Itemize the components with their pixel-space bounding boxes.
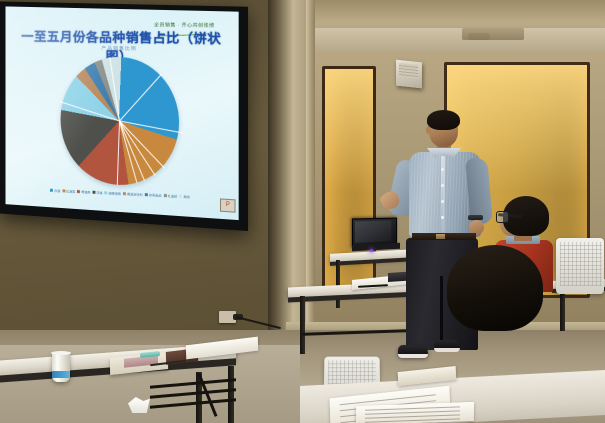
legend-label: 其他 — [183, 194, 189, 199]
legend-item: 休闲食品 — [145, 192, 162, 198]
paper-cup-foreground-band — [52, 371, 70, 378]
legend-label: 啤酒类 — [81, 189, 90, 194]
legend-swatch — [179, 195, 182, 198]
laptop-display-glow — [355, 221, 391, 243]
legend-item: 洋酒 — [92, 190, 102, 195]
alcove-glow — [325, 69, 373, 192]
paper-cup-foreground-rim — [51, 351, 71, 355]
pie-chart — [61, 56, 179, 187]
legend-item: 啤酒类 — [77, 189, 90, 195]
legend-label: 白酒 — [54, 188, 60, 193]
legend-label: 保健酒类 — [108, 190, 121, 196]
presenter-shoe-left-sole — [398, 354, 428, 358]
presentation-room-photo: 全员销售 · 齐心共创佳绩 一至五月份各品种销售占比（饼状图） 产品销售比例 白… — [0, 0, 605, 423]
projector-screen: 全员销售 · 齐心共创佳绩 一至五月份各品种销售占比（饼状图） 产品销售比例 白… — [6, 6, 239, 220]
right-table-leg — [560, 291, 565, 331]
presenter-hair — [427, 110, 460, 130]
legend-label: 休闲食品 — [149, 192, 162, 198]
legend-item: 其他 — [179, 194, 190, 200]
presenter-shoe-right-sole — [434, 348, 460, 352]
document-text-line — [365, 418, 459, 422]
laptop-indicator-led — [370, 249, 373, 252]
speaker-grill — [399, 63, 418, 79]
chair-right-mesh — [560, 242, 602, 286]
presenter-shirt-button — [441, 184, 444, 187]
rear-table-leg — [336, 260, 340, 308]
legend-item: 保健酒类 — [104, 190, 120, 196]
chart-legend: 白酒红酒类啤酒类洋酒保健酒类黄酒及饮料休闲食品礼盒装其他 — [15, 186, 228, 201]
middle-table-leg — [300, 296, 305, 354]
foreground-left-table-leg — [228, 366, 234, 423]
legend-label: 黄酒及饮料 — [127, 191, 143, 197]
legend-swatch — [50, 189, 53, 192]
legend-swatch — [164, 194, 167, 197]
handout-document — [356, 402, 474, 423]
legend-swatch — [104, 191, 107, 194]
legend-swatch — [92, 191, 95, 194]
legend-item: 白酒 — [50, 188, 60, 193]
air-conditioner-unit — [462, 28, 524, 40]
projector-screen-frame: 全员销售 · 齐心共创佳绩 一至五月份各品种销售占比（饼状图） 产品销售比例 白… — [0, 1, 248, 231]
presenter-shirt-button — [441, 168, 444, 171]
presenter-shirt-button — [441, 200, 444, 203]
legend-label: 礼盒装 — [168, 193, 178, 199]
legend-swatch — [77, 190, 80, 193]
powerpoint-badge-icon: P — [220, 198, 236, 212]
legend-swatch — [123, 192, 126, 195]
attendee-plaid-hair — [447, 245, 543, 331]
legend-swatch — [145, 193, 148, 196]
legend-item: 红酒类 — [62, 188, 75, 194]
legend-label: 洋酒 — [96, 190, 102, 195]
legend-swatch — [62, 189, 65, 192]
presenter-belt-buckle — [436, 234, 445, 239]
eyeglasses-lens-icon — [496, 211, 509, 223]
legend-item: 黄酒及饮料 — [123, 191, 143, 197]
presenter-trouser-seam — [440, 276, 443, 350]
presenter-shirt-button — [441, 216, 444, 219]
legend-label: 红酒类 — [66, 189, 75, 194]
legend-item: 礼盒装 — [164, 193, 178, 199]
